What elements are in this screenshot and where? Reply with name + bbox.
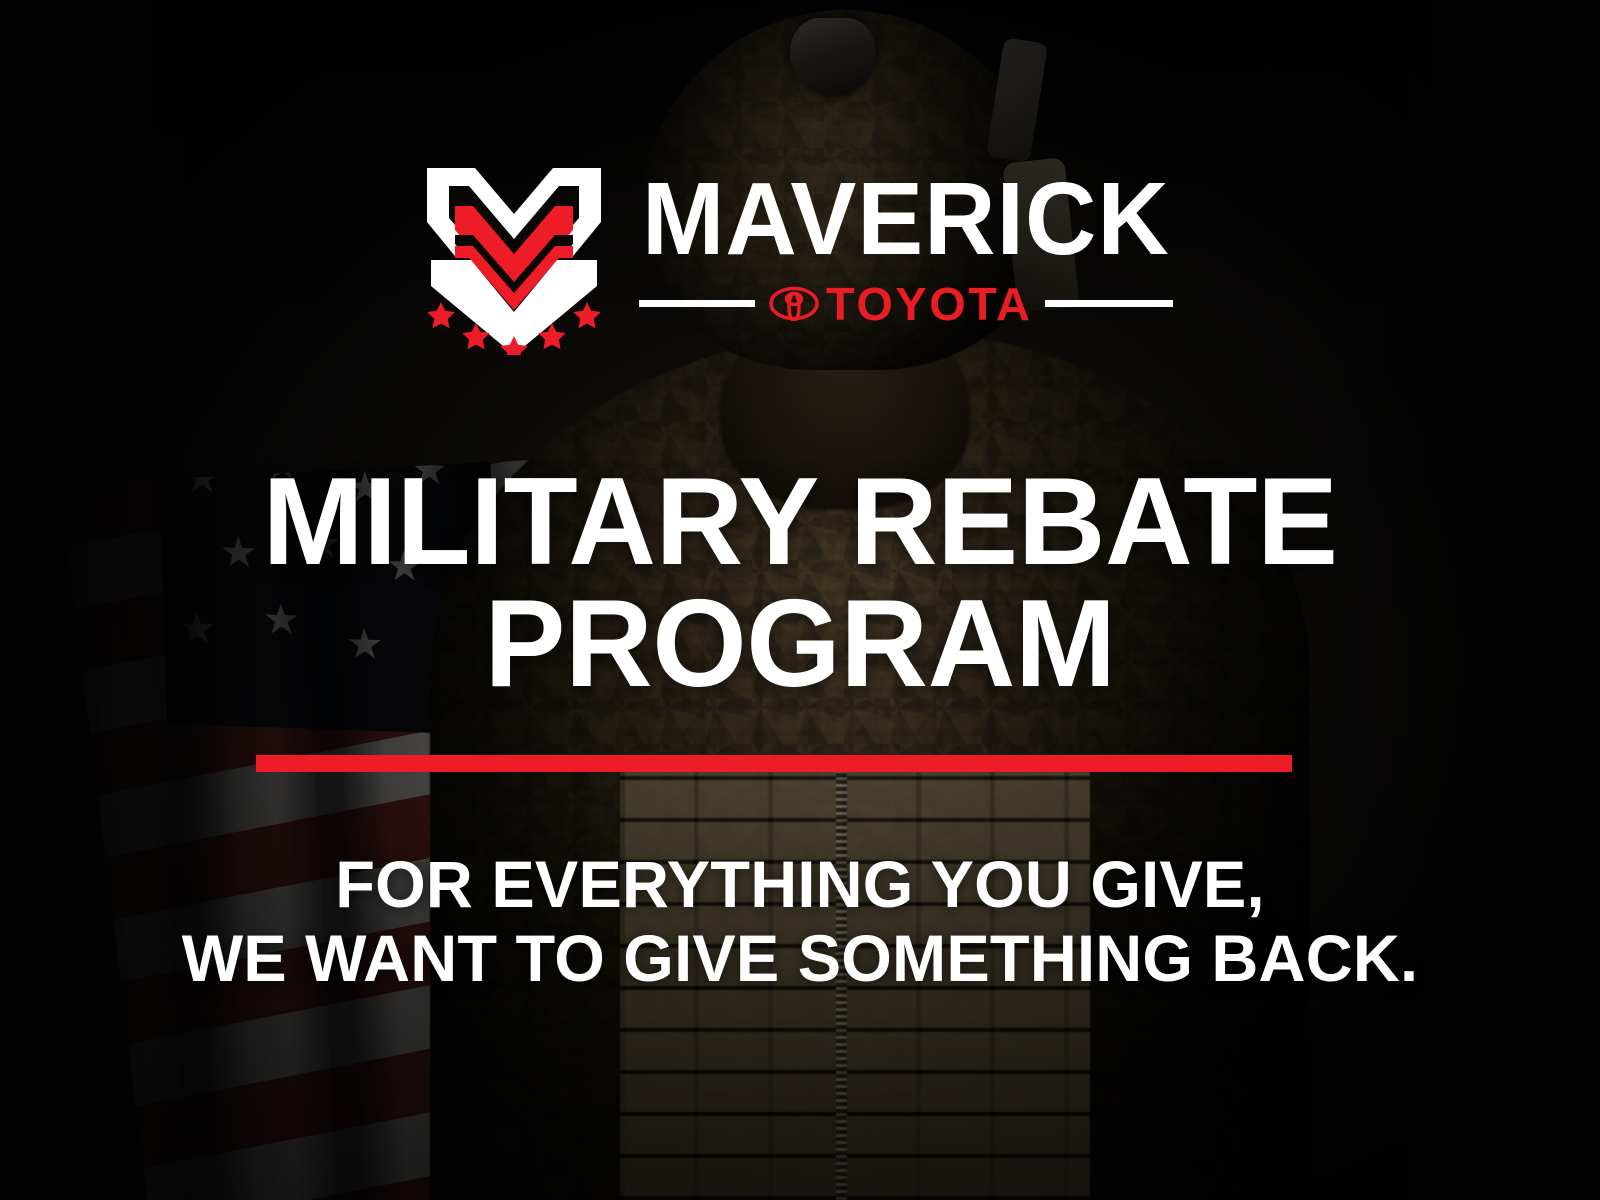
military-rebate-banner: ★ ★ ★ ★ ★ ★ ★ ★ ★ ★ (0, 0, 1600, 1200)
brand-logo-lockup[interactable]: MAVERICK TOYOTA (0, 160, 1600, 355)
toyota-sublockup: TOYOTA (633, 281, 1179, 327)
headline-line-2: PROGRAM (16, 584, 1584, 706)
page-title: MILITARY REBATE PROGRAM (16, 462, 1584, 705)
tagline-line-2: WE WANT TO GIVE SOMETHING BACK. (12, 922, 1588, 996)
tagline-line-1: FOR EVERYTHING YOU GIVE, (335, 847, 1264, 921)
brand-wordmark-block: MAVERICK TOYOTA (631, 160, 1181, 327)
toyota-logo-group: TOYOTA (769, 281, 1030, 327)
maverick-wordmark: MAVERICK (642, 172, 1170, 267)
red-divider-rule (256, 755, 1292, 772)
lockup-rule-left (639, 300, 755, 307)
chevron-rank-insignia-icon (419, 160, 609, 355)
toyota-wordmark: TOYOTA (826, 281, 1032, 327)
toyota-emblem-icon (769, 286, 819, 321)
lockup-rule-right (1045, 300, 1173, 307)
tagline: FOR EVERYTHING YOU GIVE, WE WANT TO GIVE… (12, 848, 1588, 996)
banner-content: MAVERICK TOYOTA MILITARY (0, 0, 1600, 1200)
headline-line-1: MILITARY REBATE (262, 453, 1337, 591)
